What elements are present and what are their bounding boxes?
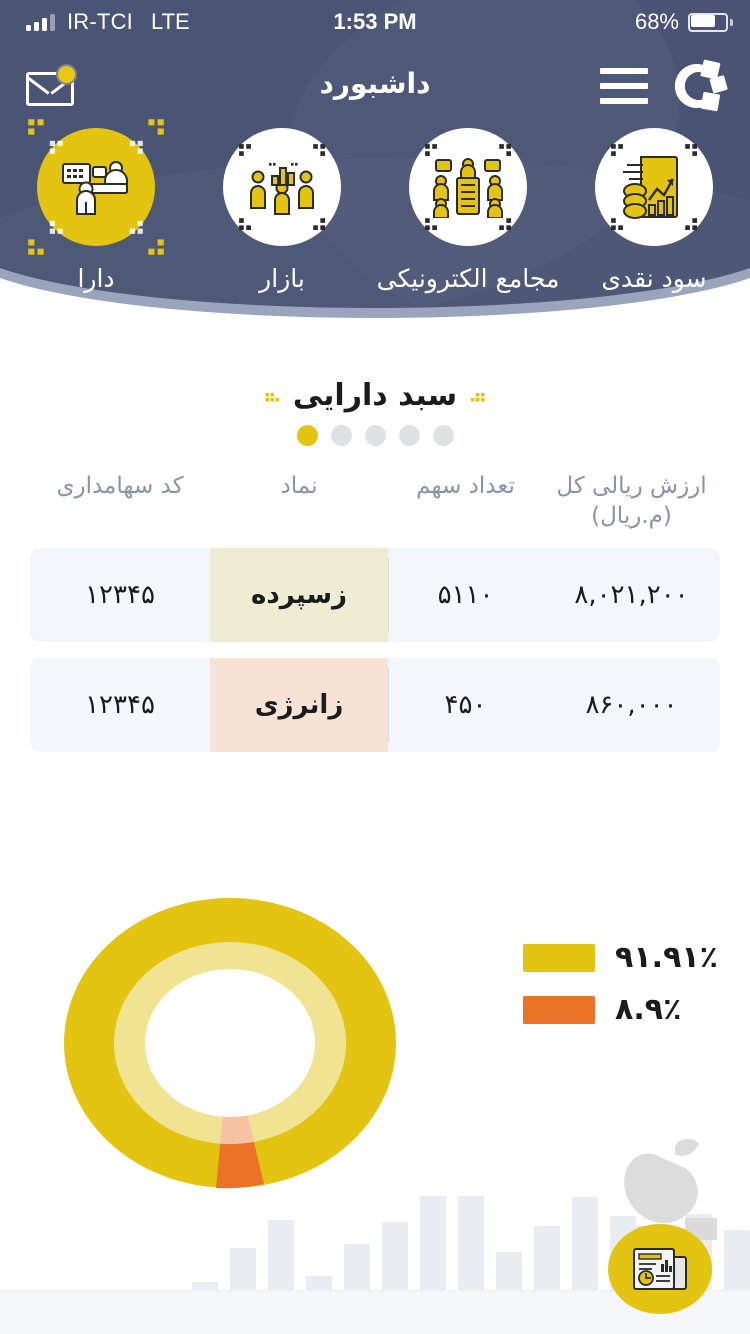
cell-shareholder-code: ۱۲۳۴۵ <box>30 658 210 752</box>
navbar-right-actions <box>600 58 728 114</box>
clock-label: 1:53 PM <box>0 9 750 35</box>
cell-total-value: ۸,۰۲۱,۲۰۰ <box>543 548 720 642</box>
battery-icon <box>688 13 728 32</box>
assembly-meeting-icon <box>432 156 504 218</box>
table-row[interactable]: ۱۲۳۴۵ زانرژی ۴۵۰ ۸۶۰,۰۰۰ <box>30 658 720 752</box>
navigation-bar: داشبورد <box>0 44 750 122</box>
brand-logo-icon <box>666 58 728 114</box>
chart-legend: ۹۱.۹۱٪ ۸.۹٪ <box>523 940 718 1027</box>
category-item-bazar[interactable]: بازار <box>200 128 364 303</box>
hamburger-menu-icon[interactable] <box>600 68 648 104</box>
category-item-cash-profit[interactable]: سود نقدی <box>572 128 736 303</box>
cell-share-count: ۴۵۰ <box>388 658 543 752</box>
cell-symbol: زانرژی <box>210 658 388 752</box>
newspaper-report-icon <box>632 1245 688 1293</box>
carousel-dot[interactable] <box>297 425 318 446</box>
legend-label: ۹۱.۹۱٪ <box>615 940 718 975</box>
envelope-icon[interactable] <box>26 66 80 110</box>
market-people-chart-icon <box>247 158 317 216</box>
carousel-dot[interactable] <box>365 425 386 446</box>
cell-shareholder-code: ۱۲۳۴۵ <box>30 548 210 642</box>
legend-swatch-yellow <box>523 944 595 972</box>
table-header-row: کد سهامداری نماد تعداد سهم ارزش ریالی کل… <box>30 466 720 532</box>
category-item-dara[interactable]: دارا <box>14 128 178 303</box>
category-label: دارا <box>77 264 114 293</box>
notification-badge <box>56 64 77 85</box>
column-header-symbol: نماد <box>210 466 388 532</box>
cash-profit-report-icon <box>619 155 689 219</box>
carousel-dot[interactable] <box>399 425 420 446</box>
legend-item: ۸.۹٪ <box>523 992 718 1027</box>
category-item-assemblies[interactable]: مجامع الکترونیکی <box>386 128 550 303</box>
table-row[interactable]: ۱۲۳۴۵ زسپرده ۵۱۱۰ ۸,۰۲۱,۲۰۰ <box>30 548 720 642</box>
legend-label: ۸.۹٪ <box>615 992 681 1027</box>
legend-swatch-orange <box>523 996 595 1024</box>
cell-symbol: زسپرده <box>210 548 388 642</box>
category-label: مجامع الکترونیکی <box>377 264 560 293</box>
section-title: سبد دارایی <box>293 378 457 413</box>
category-label: سود نقدی <box>601 264 706 293</box>
dashboard-screen: IR-TCI LTE 1:53 PM 68% داشبورد <box>0 0 750 1334</box>
cell-total-value: ۸۶۰,۰۰۰ <box>543 658 720 752</box>
column-header-share-count: تعداد سهم <box>388 466 543 532</box>
portfolio-table: کد سهامداری نماد تعداد سهم ارزش ریالی کل… <box>30 466 720 752</box>
report-fab-button[interactable] <box>608 1224 712 1314</box>
portfolio-chart: ۹۱.۹۱٪ ۸.۹٪ <box>0 855 750 1235</box>
category-circle <box>223 128 341 246</box>
presentation-people-icon <box>59 156 133 218</box>
section-header: سبد دارایی <box>0 378 750 413</box>
deco-dots-right-icon <box>263 388 279 404</box>
category-label: بازار <box>259 264 305 293</box>
donut-chart <box>30 865 430 1215</box>
category-nav: دارا <box>0 128 750 303</box>
cell-share-count: ۵۱۱۰ <box>388 548 543 642</box>
carousel-dots <box>0 425 750 446</box>
category-circle <box>595 128 713 246</box>
column-header-total-value: ارزش ریالی کل (م.ریال) <box>543 466 720 532</box>
column-header-shareholder-code: کد سهامداری <box>30 466 210 532</box>
status-bar: IR-TCI LTE 1:53 PM 68% <box>0 0 750 44</box>
legend-item: ۹۱.۹۱٪ <box>523 940 718 975</box>
carousel-dot[interactable] <box>331 425 352 446</box>
deco-dots-left-icon <box>471 388 487 404</box>
category-circle <box>409 128 527 246</box>
category-circle <box>37 128 155 246</box>
carousel-dot[interactable] <box>433 425 454 446</box>
